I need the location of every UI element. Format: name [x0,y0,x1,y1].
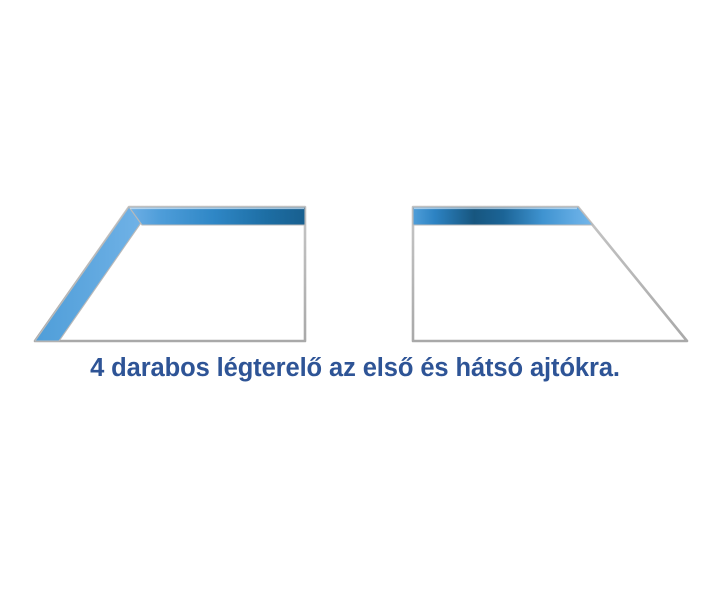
rear-door-glass-outline [413,207,687,341]
front-door-window-shape [35,207,305,341]
rear-door-window-shape [413,207,687,341]
rear-door-deflector-strip-top [413,207,593,225]
product-figure: 4 darabos légterelő az első és hátsó ajt… [0,0,710,613]
front-door-glass-outline [35,207,305,341]
front-door-deflector-strip-top [129,207,305,225]
figure-caption: 4 darabos légterelő az első és hátsó ajt… [0,353,710,384]
window-deflector-diagram [0,0,710,613]
